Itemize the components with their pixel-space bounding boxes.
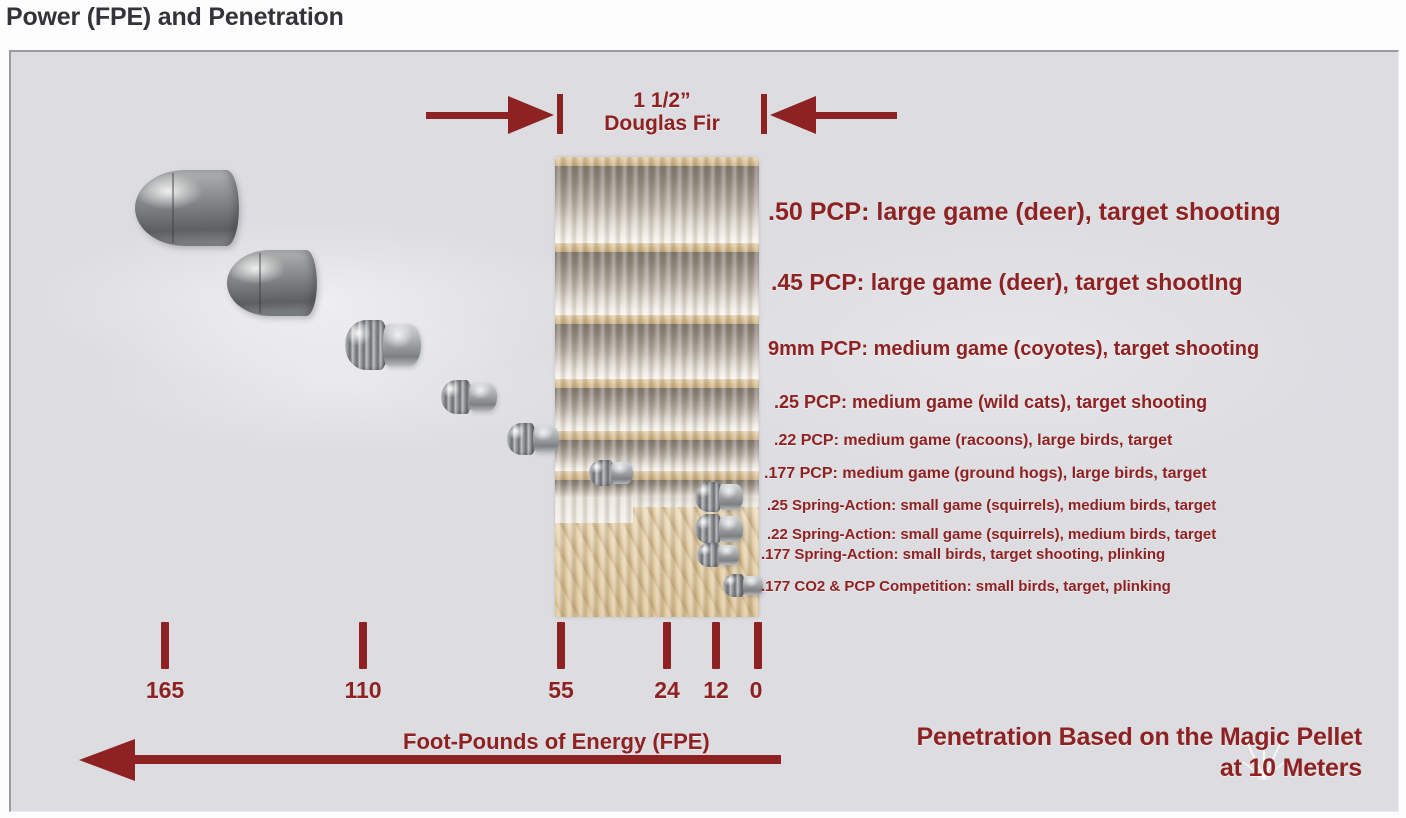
footer-caption: Penetration Based on the Magic Pellet at… bbox=[917, 722, 1362, 783]
wood-band bbox=[555, 315, 759, 379]
wood-band-cap bbox=[555, 471, 759, 480]
pellet-head bbox=[589, 460, 614, 486]
infographic-panel: 1 1/2” Douglas Fir bbox=[9, 50, 1399, 812]
wood-band-cap bbox=[555, 379, 759, 388]
dim-right-shaft bbox=[815, 112, 897, 119]
infographic-page: Power (FPE) and Penetration 1 1/2” Dougl… bbox=[0, 0, 1406, 818]
projectile-pellet-22pcp bbox=[507, 423, 559, 455]
pellet-head bbox=[697, 543, 721, 567]
caliber-label-177-spring: .177 Spring-Action: small birds, target … bbox=[761, 546, 1165, 563]
pellet-skirt bbox=[719, 516, 743, 541]
wood-band-face bbox=[555, 252, 759, 315]
wood-band bbox=[555, 431, 759, 471]
pellet-head bbox=[441, 380, 472, 414]
pellet-head bbox=[507, 423, 536, 455]
caliber-label-25-spring: .25 Spring-Action: small game (squirrels… bbox=[767, 497, 1216, 514]
caliber-label-22-spring: .22 Spring-Action: small game (squirrels… bbox=[767, 526, 1216, 543]
dim-left-tick bbox=[557, 94, 563, 134]
wood-band-face bbox=[555, 440, 759, 471]
caliber-label-9mm-pcp: 9mm PCP: medium game (coyotes), target s… bbox=[768, 338, 1259, 361]
caliber-label-177-pcp: .177 PCP: medium game (ground hogs), lar… bbox=[764, 465, 1207, 483]
pellet-skirt bbox=[743, 576, 763, 595]
projectile-pellet-25spring bbox=[695, 482, 743, 512]
dim-label-group: 1 1/2” Douglas Fir bbox=[567, 90, 757, 135]
projectile-pellet-177co2 bbox=[723, 574, 763, 597]
axis-tick-24 bbox=[663, 622, 671, 669]
wood-band-face bbox=[555, 166, 759, 243]
caliber-label-177-co2: .177 CO2 & PCP Competition: small birds,… bbox=[761, 578, 1171, 595]
axis-tick-label-55: 55 bbox=[548, 677, 574, 704]
left-arrow-icon bbox=[79, 739, 135, 781]
wood-band-face bbox=[555, 388, 759, 431]
dim-thickness-label: 1 1/2” bbox=[567, 90, 757, 113]
dim-material-label: Douglas Fir bbox=[567, 113, 757, 136]
caliber-label-22-pcp: .22 PCP: medium game (racoons), large bi… bbox=[774, 432, 1172, 450]
dim-right-arrowhead-icon bbox=[770, 96, 816, 134]
pellet-skirt bbox=[383, 324, 421, 366]
wood-band-cap bbox=[555, 243, 759, 252]
axis-tick-label-0: 0 bbox=[750, 677, 763, 704]
dim-left-shaft bbox=[426, 112, 511, 119]
footer-caption-line2: at 10 Meters bbox=[917, 753, 1362, 784]
wood-band-face bbox=[555, 324, 759, 379]
pellet-skirt bbox=[469, 383, 497, 412]
pellet-skirt bbox=[611, 462, 633, 484]
wood-band bbox=[555, 157, 759, 243]
wood-band bbox=[555, 243, 759, 315]
wood-band-cap bbox=[555, 431, 759, 440]
caliber-label-50-pcp: .50 PCP: large game (deer), target shoot… bbox=[768, 198, 1281, 227]
pellet-head bbox=[695, 482, 722, 512]
axis-tick-110 bbox=[359, 622, 367, 669]
axis-caption: Foot-Pounds of Energy (FPE) bbox=[403, 729, 710, 755]
pellet-skirt bbox=[719, 484, 743, 509]
axis-tick-label-165: 165 bbox=[146, 677, 184, 704]
footer-caption-line1: Penetration Based on the Magic Pellet bbox=[917, 722, 1362, 753]
wood-step-cut bbox=[555, 497, 633, 523]
projectile-slug-50 bbox=[135, 170, 239, 246]
axis-tick-label-12: 12 bbox=[703, 677, 729, 704]
wood-band bbox=[555, 379, 759, 431]
pellet-skirt bbox=[718, 545, 739, 565]
axis-arrow-shaft bbox=[133, 755, 781, 764]
projectile-pellet-177pcp bbox=[589, 460, 633, 486]
pellet-head bbox=[695, 514, 722, 544]
pellet-head bbox=[345, 320, 388, 370]
projectile-pellet-177spring bbox=[697, 543, 739, 567]
page-title: Power (FPE) and Penetration bbox=[6, 3, 344, 32]
axis-tick-label-24: 24 bbox=[654, 677, 680, 704]
wood-band-cap bbox=[555, 315, 759, 324]
caliber-label-45-pcp: .45 PCP: large game (deer), target shoot… bbox=[771, 269, 1243, 296]
projectile-pellet-22spring bbox=[695, 514, 743, 544]
dim-right-tick bbox=[761, 94, 767, 134]
wood-band-cap bbox=[555, 157, 759, 166]
axis-tick-0 bbox=[754, 622, 762, 669]
axis-tick-12 bbox=[712, 622, 720, 669]
axis-tick-label-110: 110 bbox=[344, 677, 381, 704]
projectile-pellet-9mm bbox=[345, 320, 421, 370]
dim-left-arrowhead-icon bbox=[508, 96, 554, 134]
projectile-pellet-25pcp bbox=[441, 380, 497, 414]
pellet-skirt bbox=[533, 426, 559, 453]
projectile-slug-45 bbox=[227, 250, 317, 316]
axis-tick-165 bbox=[161, 622, 169, 669]
axis-tick-55 bbox=[557, 622, 565, 669]
caliber-label-25-pcp: .25 PCP: medium game (wild cats), target… bbox=[774, 392, 1207, 413]
